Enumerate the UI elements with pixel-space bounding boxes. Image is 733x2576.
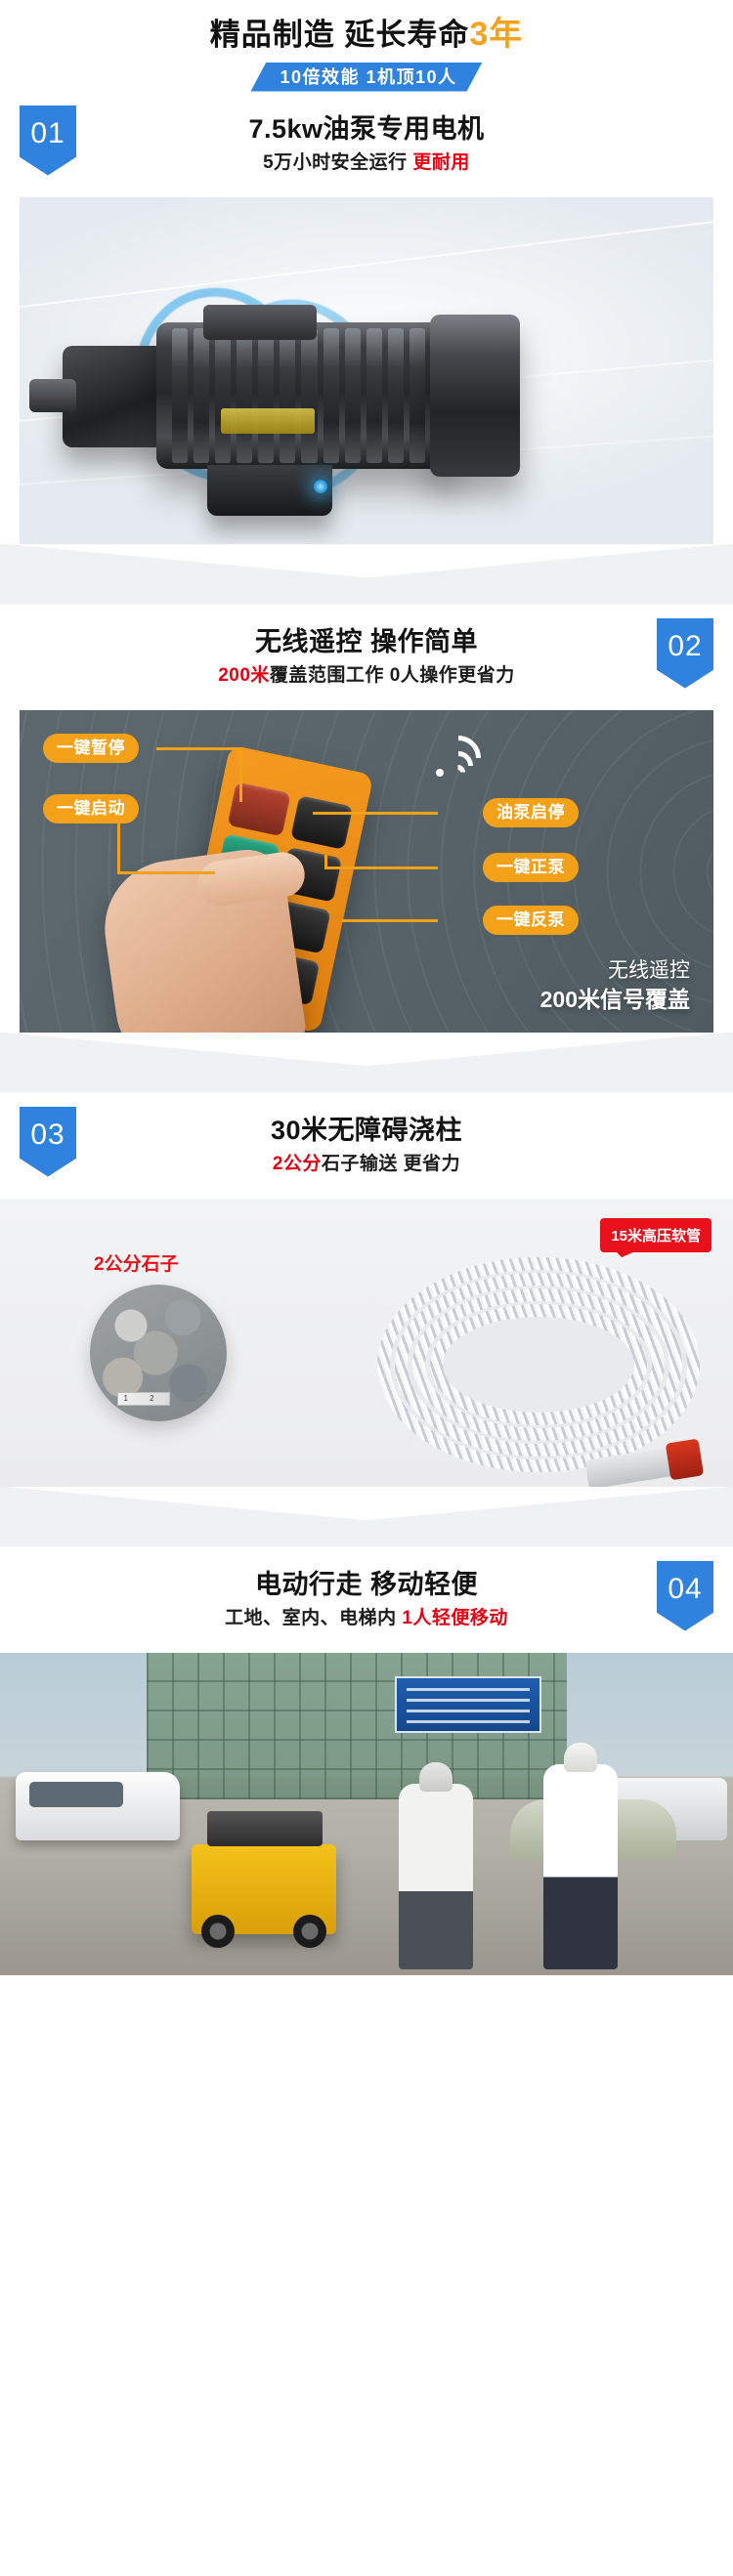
- motor-stage: [20, 197, 713, 544]
- fin: [388, 328, 404, 463]
- section-01-subtitle-plain: 5万小时安全运行: [263, 152, 412, 173]
- divider-chevron-3: [0, 1487, 733, 1547]
- remote-caption-line2: 200米信号覆盖: [540, 985, 690, 1014]
- fin: [345, 328, 361, 463]
- motor-end-cap: [430, 315, 520, 477]
- speed-line-1: [20, 209, 713, 317]
- fin: [280, 328, 295, 463]
- section-04-head: 04 电动行走 移动轻便 工地、室内、电梯内 1人轻便移动: [0, 1547, 733, 1653]
- section-04: 04 电动行走 移动轻便 工地、室内、电梯内 1人轻便移动: [0, 1547, 733, 1975]
- ground-surface: [0, 1858, 733, 1975]
- section-03-head: 03 30米无障碍浇柱 2公分石子输送 更省力: [0, 1093, 733, 1199]
- callout-forward-pump: 一键正泵: [483, 853, 579, 882]
- hose-loop-4: [430, 1304, 647, 1425]
- leader-line-pause-v: [239, 747, 242, 802]
- leader-line-start-v: [117, 823, 120, 874]
- badge-03: 03: [20, 1107, 76, 1177]
- section-01-titles: 7.5kw油泵专用电机 5万小时安全运行 更耐用: [248, 114, 484, 174]
- site-signboard: [395, 1676, 541, 1733]
- concrete-pump-machine: [192, 1844, 336, 1934]
- divider-chevron-1: [0, 544, 733, 605]
- section-03-title: 30米无障碍浇柱: [271, 1116, 462, 1145]
- section-04-subtitle: 工地、室内、电梯内 1人轻便移动: [225, 1608, 508, 1628]
- hose-length-tag: 15米高压软管: [600, 1218, 711, 1252]
- gravel-size-label: 2公分石子: [94, 1249, 179, 1276]
- worker-bystander: [543, 1764, 618, 1969]
- section-04-subtitle-plain: 工地、室内、电梯内: [225, 1608, 402, 1628]
- indicator-led: [313, 479, 328, 494]
- motor-photo: [20, 197, 713, 544]
- section-01-subtitle-accent: 更耐用: [412, 152, 470, 173]
- fin: [172, 328, 188, 463]
- section-03-subtitle-accent: 2公分: [273, 1154, 322, 1174]
- section-03-titles: 30米无障碍浇柱 2公分石子输送 更省力: [271, 1116, 462, 1175]
- wifi-signal-icon: [432, 736, 487, 779]
- badge-01: 01: [20, 106, 76, 176]
- section-03-subtitle: 2公分石子输送 更省力: [271, 1154, 462, 1174]
- badge-04: 04: [657, 1561, 713, 1631]
- hose-photo: 15米高压软管 2公分石子 1 2: [0, 1199, 733, 1487]
- section-01-head: 01 7.5kw油泵专用电机 5万小时安全运行 更耐用: [0, 92, 733, 197]
- fin: [366, 328, 382, 463]
- ribbon-banner: 10倍效能 1机顶10人: [250, 63, 482, 92]
- section-02: 02 无线遥控 操作简单 200米覆盖范围工作 0人操作更省力: [0, 605, 733, 1033]
- fin: [258, 328, 274, 463]
- remote-caption: 无线遥控 200米信号覆盖: [540, 957, 690, 1014]
- headline-accent: 3年: [469, 16, 523, 53]
- oil-pump-key: [290, 795, 354, 850]
- terminal-box: [203, 305, 317, 340]
- ribbon-row: 10倍效能 1机顶10人: [0, 63, 733, 92]
- callout-reverse-pump: 一键反泵: [483, 906, 579, 935]
- divider-chevron-2: [0, 1033, 733, 1093]
- section-03: 03 30米无障碍浇柱 2公分石子输送 更省力 15米高压软管 2公分石子 1 …: [0, 1093, 733, 1487]
- section-02-subtitle-accent: 200米: [218, 665, 270, 686]
- section-02-head: 02 无线遥控 操作简单 200米覆盖范围工作 0人操作更省力: [0, 605, 733, 710]
- section-01-subtitle: 5万小时安全运行 更耐用: [248, 152, 484, 173]
- section-02-title: 无线遥控 操作简单: [218, 627, 515, 656]
- remote-photo: 一键暂停 一键启动 油泵启停 一键正泵 一键反泵 无线遥控 200米信号覆盖: [20, 710, 713, 1033]
- leader-line-oil-pump: [313, 812, 438, 815]
- callout-start: 一键启动: [43, 794, 139, 823]
- stop-key: [228, 781, 291, 836]
- machine-wheel-right: [293, 1915, 326, 1948]
- fin: [410, 328, 425, 463]
- remote-caption-line1: 无线遥控: [540, 957, 690, 985]
- site-photo: [0, 1653, 733, 1975]
- page-title: 精品制造 延长寿命3年: [0, 14, 733, 56]
- motor-nameplate: [221, 408, 315, 434]
- section-04-subtitle-accent: 1人轻便移动: [402, 1608, 508, 1628]
- section-02-subtitle-rest: 覆盖范围工作 0人操作更省力: [270, 665, 515, 686]
- fin: [215, 328, 231, 463]
- section-02-titles: 无线遥控 操作简单 200米覆盖范围工作 0人操作更省力: [218, 627, 515, 687]
- worker-operator: [399, 1784, 473, 1969]
- leader-line-reverse: [342, 919, 438, 922]
- callout-pause: 一键暂停: [43, 734, 139, 763]
- section-01: 01 7.5kw油泵专用电机 5万小时安全运行 更耐用: [0, 92, 733, 544]
- white-van-left: [16, 1772, 180, 1840]
- section-02-subtitle: 200米覆盖范围工作 0人操作更省力: [218, 665, 515, 686]
- gravel-scale-ruler: 1 2: [117, 1392, 170, 1406]
- callout-oil-pump: 油泵启停: [483, 798, 579, 827]
- leader-line-pause-h: [156, 747, 242, 750]
- badge-02: 02: [657, 618, 713, 689]
- headline-main: 精品制造 延长寿命: [210, 18, 470, 52]
- leader-line-start-h: [117, 871, 215, 874]
- section-01-title: 7.5kw油泵专用电机: [248, 114, 484, 144]
- fin: [323, 328, 339, 463]
- machine-wheel-left: [201, 1915, 235, 1948]
- fin: [237, 328, 252, 463]
- section-03-subtitle-rest: 石子输送 更省力: [322, 1154, 460, 1174]
- cooling-fins: [172, 328, 425, 463]
- wifi-dot: [436, 769, 444, 777]
- product-detail-page: 精品制造 延长寿命3年 10倍效能 1机顶10人 01 7.5kw油泵专用电机 …: [0, 0, 733, 1975]
- motor-housing: [156, 322, 454, 469]
- page-header: 精品制造 延长寿命3年 10倍效能 1机顶10人: [0, 0, 733, 92]
- section-04-titles: 电动行走 移动轻便 工地、室内、电梯内 1人轻便移动: [225, 1570, 508, 1629]
- remote-stage: 一键暂停 一键启动 油泵启停 一键正泵 一键反泵 无线遥控 200米信号覆盖: [20, 710, 713, 1033]
- leader-line-forward-h: [324, 866, 438, 869]
- fin: [301, 328, 317, 463]
- motor-shaft: [29, 379, 76, 412]
- high-pressure-hose-coil: [377, 1257, 700, 1472]
- fin: [194, 328, 209, 463]
- section-04-title: 电动行走 移动轻便: [225, 1570, 508, 1599]
